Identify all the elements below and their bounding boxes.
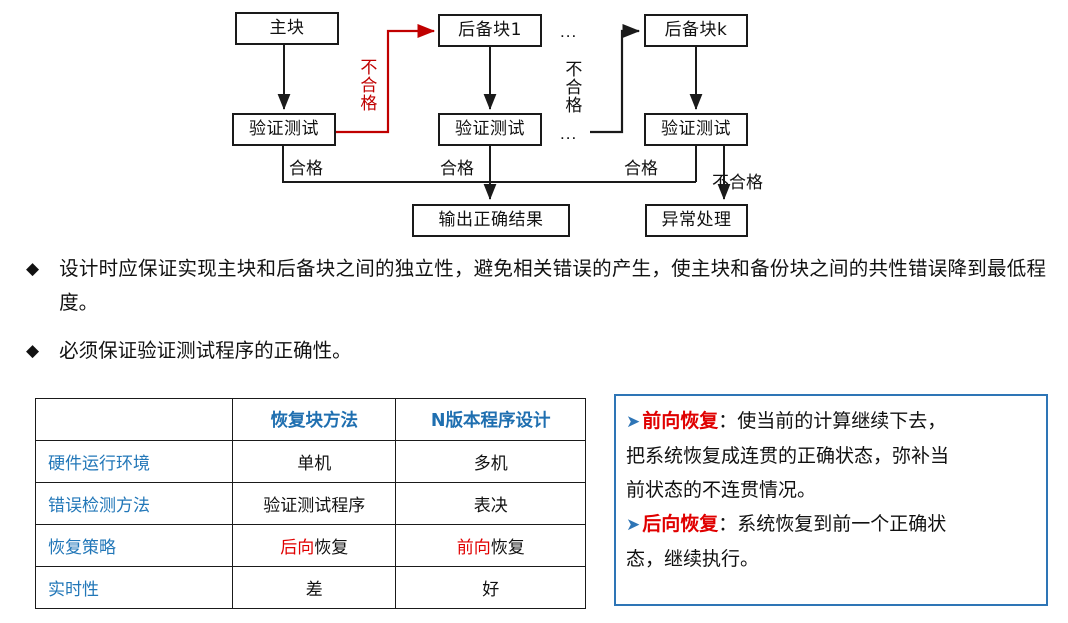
note-text-line: 前状态的不连贯情况。 bbox=[626, 473, 1034, 507]
table-row-label: 硬件运行环境 bbox=[36, 441, 233, 483]
note-text: 使当前的计算继续下去， bbox=[737, 410, 946, 432]
node-backup-block-k: 后备块k bbox=[644, 14, 748, 47]
table-cell: 好 bbox=[396, 567, 586, 609]
node-exception-handling: 异常处理 bbox=[645, 204, 748, 237]
table-cell: 表决 bbox=[396, 483, 586, 525]
node-label: 验证测试 bbox=[661, 121, 731, 138]
table-column-header: N版本程序设计 bbox=[396, 399, 586, 441]
note-separator: ： bbox=[718, 513, 737, 535]
table-row-label: 恢复策略 bbox=[36, 525, 233, 567]
cell-text: 表决 bbox=[474, 496, 508, 516]
table-cell: 后向恢复 bbox=[233, 525, 396, 567]
note-text-line: 把系统恢复成连贯的正确状态，弥补当 bbox=[626, 439, 1034, 473]
note-item-backward-recovery: ➤后向恢复：系统恢复到前一个正确状 bbox=[626, 507, 1034, 542]
arrow-bullet-icon: ➤ bbox=[626, 515, 642, 535]
node-label: 后备块k bbox=[665, 22, 728, 39]
node-label: 输出正确结果 bbox=[439, 212, 544, 229]
arrow-bullet-icon: ➤ bbox=[626, 412, 642, 432]
edge-label-fail-right: 不合格 bbox=[712, 168, 763, 193]
table-row: 实时性 差 好 bbox=[36, 567, 586, 609]
comparison-table: 恢复块方法 N版本程序设计 硬件运行环境 单机 多机 错误检测方法 验证测试程序… bbox=[35, 398, 586, 609]
cell-emphasis: 前向 bbox=[457, 538, 491, 558]
cell-text: 恢复 bbox=[491, 538, 525, 558]
cell-text: 恢复 bbox=[314, 538, 348, 558]
note-item-forward-recovery: ➤前向恢复：使当前的计算继续下去， bbox=[626, 404, 1034, 439]
edge-label-pass-2: 合格 bbox=[440, 154, 474, 179]
diamond-bullet-icon: ◆ bbox=[0, 252, 59, 286]
node-label: 异常处理 bbox=[662, 212, 732, 229]
node-output-correct-result: 输出正确结果 bbox=[412, 204, 570, 237]
node-verify-test-k: 验证测试 bbox=[644, 113, 748, 146]
note-text-line: 态，继续执行。 bbox=[626, 542, 1034, 576]
node-verify-test-1: 验证测试 bbox=[232, 113, 336, 146]
table-row: 恢复策略 后向恢复 前向恢复 bbox=[36, 525, 586, 567]
bullet-text: 设计时应保证实现主块和后备块之间的独立性，避免相关错误的产生，使主块和备份块之间… bbox=[59, 252, 1068, 320]
edge-label-pass-1: 合格 bbox=[289, 154, 323, 179]
table-header-row: 恢复块方法 N版本程序设计 bbox=[36, 399, 586, 441]
note-term: 后向恢复 bbox=[642, 513, 718, 535]
note-text: 把系统恢复成连贯的正确状态，弥补当 bbox=[626, 445, 949, 467]
note-text: 态，继续执行。 bbox=[626, 548, 759, 570]
node-label: 主块 bbox=[270, 20, 305, 37]
note-text: 系统恢复到前一个正确状 bbox=[737, 513, 946, 535]
table-row: 硬件运行环境 单机 多机 bbox=[36, 441, 586, 483]
node-main-block: 主块 bbox=[235, 12, 339, 45]
table-cell: 单机 bbox=[233, 441, 396, 483]
recovery-definition-note-box: ➤前向恢复：使当前的计算继续下去， 把系统恢复成连贯的正确状态，弥补当 前状态的… bbox=[614, 394, 1048, 606]
bullet-text: 必须保证验证测试程序的正确性。 bbox=[59, 334, 1068, 368]
bullet-list: ◆ 设计时应保证实现主块和后备块之间的独立性，避免相关错误的产生，使主块和备份块… bbox=[0, 252, 1068, 368]
node-backup-block-1: 后备块1 bbox=[438, 14, 542, 47]
node-label: 验证测试 bbox=[455, 121, 525, 138]
table-column-header: 恢复块方法 bbox=[233, 399, 396, 441]
node-label: 验证测试 bbox=[249, 121, 319, 138]
edge-label-pass-3: 合格 bbox=[624, 154, 658, 179]
table-cell: 差 bbox=[233, 567, 396, 609]
recovery-block-flow-diagram: 主块 后备块1 后备块k 验证测试 验证测试 验证测试 输出正确结果 异常处理 … bbox=[0, 0, 1068, 250]
cell-emphasis: 后向 bbox=[280, 538, 314, 558]
table-cell: 多机 bbox=[396, 441, 586, 483]
cell-text: 多机 bbox=[474, 454, 508, 474]
edge-label-fail-middle: 不合格 bbox=[562, 60, 579, 114]
bullet-item: ◆ 必须保证验证测试程序的正确性。 bbox=[0, 334, 1068, 368]
edge-label-fail-red: 不合格 bbox=[357, 58, 374, 112]
diamond-bullet-icon: ◆ bbox=[0, 334, 59, 368]
note-separator: ： bbox=[718, 410, 737, 432]
table-row-label: 实时性 bbox=[36, 567, 233, 609]
cell-text: 好 bbox=[482, 580, 499, 600]
table-corner-cell bbox=[36, 399, 233, 441]
table-cell: 前向恢复 bbox=[396, 525, 586, 567]
edge-label-ellipsis-middle: ... bbox=[560, 124, 577, 144]
bullet-item: ◆ 设计时应保证实现主块和后备块之间的独立性，避免相关错误的产生，使主块和备份块… bbox=[0, 252, 1068, 320]
note-term: 前向恢复 bbox=[642, 410, 718, 432]
table-cell: 验证测试程序 bbox=[233, 483, 396, 525]
table-row-label: 错误检测方法 bbox=[36, 483, 233, 525]
note-text: 前状态的不连贯情况。 bbox=[626, 479, 816, 501]
edge-label-ellipsis-top: ... bbox=[560, 22, 577, 42]
node-label: 后备块1 bbox=[458, 22, 522, 39]
node-verify-test-2: 验证测试 bbox=[438, 113, 542, 146]
cell-text: 验证测试程序 bbox=[263, 496, 365, 516]
table-row: 错误检测方法 验证测试程序 表决 bbox=[36, 483, 586, 525]
cell-text: 单机 bbox=[297, 454, 331, 474]
cell-text: 差 bbox=[306, 580, 323, 600]
